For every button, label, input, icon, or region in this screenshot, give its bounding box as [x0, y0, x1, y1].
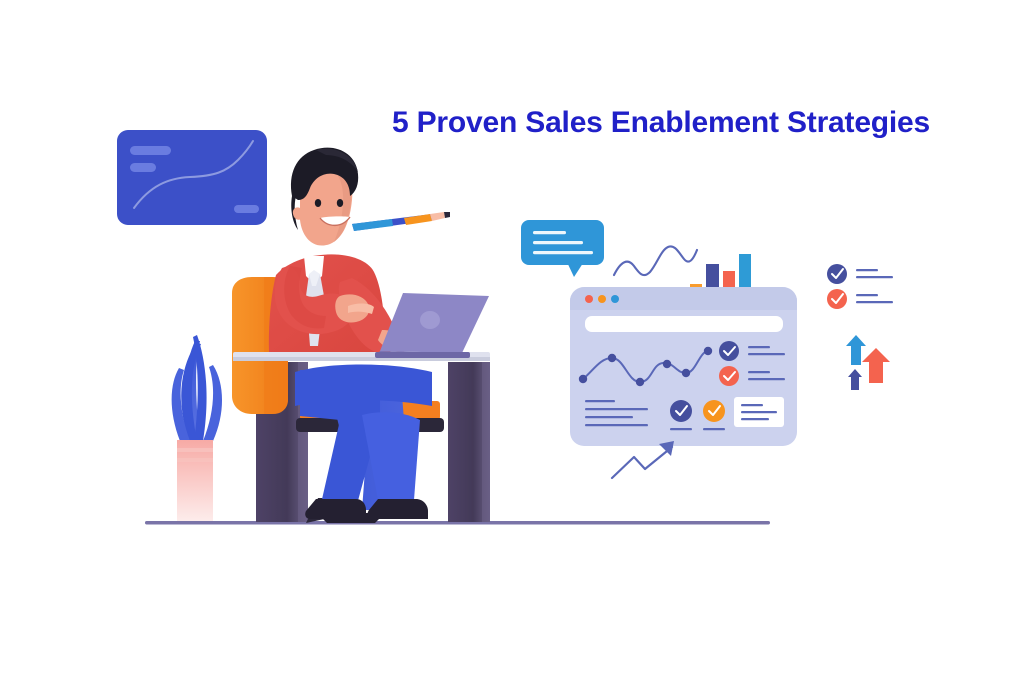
growth-arrow [612, 441, 674, 478]
side-checklist [827, 264, 893, 309]
close-dot [585, 295, 593, 303]
maximize-dot [611, 295, 619, 303]
laptop [375, 293, 489, 358]
minimize-dot [598, 295, 606, 303]
dashboard-window[interactable] [570, 287, 797, 446]
illustration-canvas: 5 Proven Sales Enablement Strategies [0, 0, 1024, 683]
arrow-up-coral [862, 348, 890, 383]
person-legs [295, 365, 432, 520]
person-head [291, 148, 358, 246]
search-bar [585, 316, 783, 332]
chat-bubble [521, 220, 604, 277]
arrow-up-indigo [848, 369, 862, 390]
scene-artwork [0, 0, 1024, 683]
potted-plant [172, 335, 222, 521]
side-arrows [846, 335, 890, 390]
pencil [352, 212, 450, 231]
analytics-card [117, 130, 267, 225]
arrow-up-blue [846, 335, 866, 365]
wave-line [614, 246, 697, 275]
page-title: 5 Proven Sales Enablement Strategies [392, 106, 992, 140]
